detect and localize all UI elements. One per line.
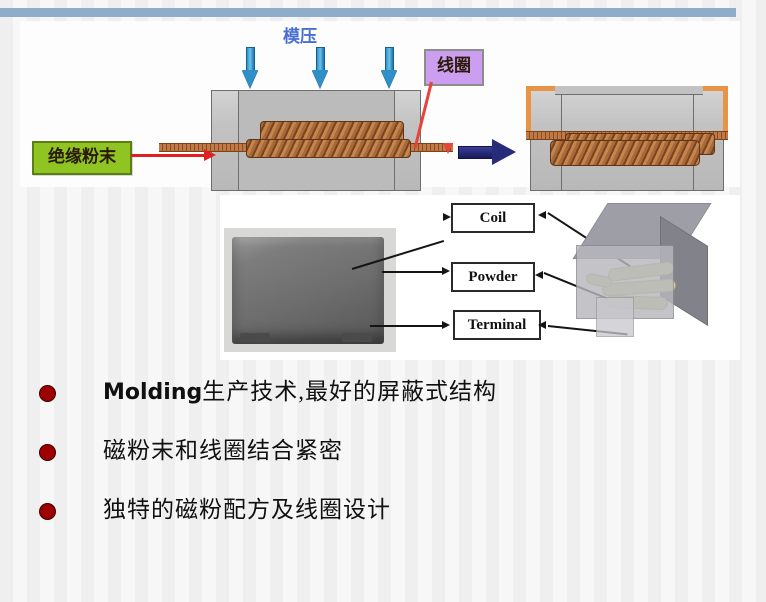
callout-powder: Powder: [451, 262, 535, 292]
bullet-cjk-3: 独特的磁粉配方及线圈设计: [103, 497, 391, 522]
leader-render-to-powder-head: [535, 271, 543, 279]
list-item: Molding生产技术,最好的屏蔽式结构: [0, 374, 766, 410]
powder-feed-arrow-head: [204, 149, 216, 161]
press-arrow-3: [381, 47, 398, 88]
coil-leader-arrowhead: [443, 143, 453, 154]
process-flow-arrow: [458, 139, 516, 165]
leader-photo-to-coil-head: [443, 213, 451, 221]
component-photo: [232, 237, 384, 344]
press-arrow-2: [312, 47, 329, 88]
bullet-dot-icon: [39, 444, 56, 461]
list-item: 磁粉末和线圈结合紧密: [0, 433, 766, 469]
mold-divider-left: [238, 91, 239, 190]
label-coil-cn: 线圈: [424, 49, 484, 86]
powder-feed-arrow-shaft: [131, 154, 207, 157]
callout-coil: Coil: [451, 203, 535, 233]
coil-mass-lower: [246, 139, 411, 158]
finished-coil-lower: [550, 140, 700, 166]
bullet-list: Molding生产技术,最好的屏蔽式结构 磁粉末和线圈结合紧密 独特的磁粉配方及…: [0, 374, 766, 550]
list-item: 独特的磁粉配方及线圈设计: [0, 492, 766, 528]
slide-canvas: 模压 绝缘粉末 线圈 Coil Powder Terminal: [0, 0, 766, 602]
leader-photo-to-powder: [382, 271, 444, 273]
component-photo-terminal-right: [342, 333, 372, 342]
bullet-cjk-2: 磁粉末和线圈结合紧密: [103, 438, 343, 463]
bullet-text-3: 独特的磁粉配方及线圈设计: [103, 492, 433, 528]
bullet-dot-icon: [39, 385, 56, 402]
component-photo-terminal-left: [240, 333, 270, 342]
label-insulating-powder: 绝缘粉末: [32, 141, 132, 175]
render-terminal-notch: [596, 297, 634, 337]
leader-render-to-coil-head: [538, 211, 546, 219]
component-3d-cutaway: [576, 203, 724, 353]
callout-terminal: Terminal: [453, 310, 541, 340]
leader-photo-to-terminal-head: [442, 321, 450, 329]
leader-render-to-terminal-head: [538, 321, 546, 329]
bullet-text-2: 磁粉末和线圈结合紧密: [103, 433, 343, 469]
bullet-latin-1: Molding: [103, 380, 202, 405]
finished-top-fill: [555, 86, 703, 95]
bullet-cjk-1: 生产技术,最好的屏蔽式结构: [202, 379, 497, 404]
label-molding-pressure: 模压: [283, 29, 317, 46]
leader-photo-to-terminal: [370, 325, 444, 327]
bullet-dot-icon: [39, 503, 56, 520]
press-arrow-1: [242, 47, 259, 88]
bullet-text-1: Molding生产技术,最好的屏蔽式结构: [103, 374, 497, 410]
leader-photo-to-powder-head: [442, 267, 450, 275]
top-accent-bar: [0, 8, 736, 17]
